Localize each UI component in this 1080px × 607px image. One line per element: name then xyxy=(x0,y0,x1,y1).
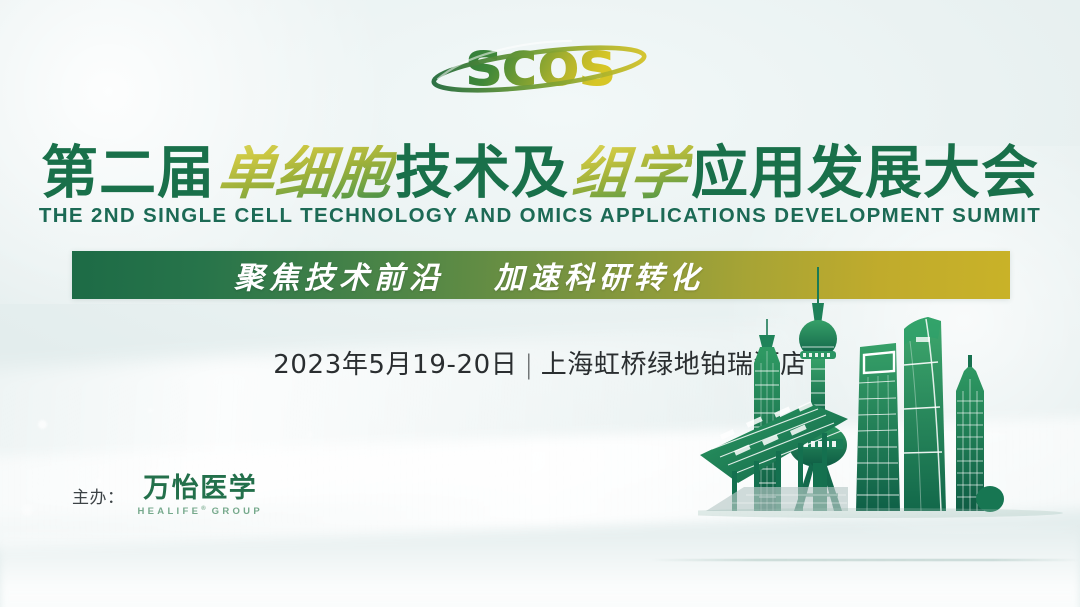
title-segment-2-brush: 单细胞 xyxy=(213,145,398,202)
page-title: 第二届 单细胞 技术及 组学 应用发展大会 xyxy=(0,126,1080,202)
bokeh-dot xyxy=(22,505,33,516)
expo-center-canopy xyxy=(700,401,848,511)
scos-logo: scos xyxy=(0,22,1080,102)
healife-logo: 万怡医学 HEALIFE® GROUP xyxy=(138,474,263,517)
organizer-name-cn: 万怡医学 xyxy=(143,474,257,503)
event-date: 2023年5月19-20日 xyxy=(273,350,517,380)
organizer-block: 主办： 万怡医学 HEALIFE® GROUP xyxy=(72,474,263,517)
skyline-ground-line xyxy=(650,559,1080,561)
bokeh-dot xyxy=(198,452,202,456)
title-segment-5: 应用发展大会 xyxy=(691,145,1039,202)
trademark-symbol: ® xyxy=(201,506,205,512)
slogan-left: 聚焦技术前沿 xyxy=(234,253,444,297)
title-segment-1: 第二届 xyxy=(41,145,215,202)
bokeh-dot xyxy=(148,408,153,413)
organizer-name-en: HEALIFE® GROUP xyxy=(138,506,263,517)
title-segment-3: 技术及 xyxy=(395,145,569,202)
event-separator: | xyxy=(517,350,540,380)
subtitle-english: THE 2ND SINGLE CELL TECHNOLOGY AND OMICS… xyxy=(0,204,1080,228)
slogan-banner: 聚焦技术前沿 加速科研转化 xyxy=(72,251,1010,299)
organizer-name-en-main: HEALIFE xyxy=(138,506,202,517)
event-datetime-venue: 2023年5月19-20日|上海虹桥绿地铂瑞酒店 xyxy=(0,344,1080,381)
event-venue: 上海虹桥绿地铂瑞酒店 xyxy=(541,350,807,380)
title-segment-4-brush: 组学 xyxy=(567,145,694,202)
organizer-name-en-suffix: GROUP xyxy=(212,506,263,517)
organizer-label: 主办： xyxy=(72,483,125,508)
poster-canvas: scos 第二届 单细胞 技术及 组学 应用发展大会 THE 2ND SINGL… xyxy=(0,0,1080,607)
bottom-fade xyxy=(0,522,1080,607)
shanghai-skyline-illustration xyxy=(698,259,1080,559)
bokeh-dot xyxy=(38,420,47,429)
slogan-right: 加速科研转化 xyxy=(494,253,704,297)
bokeh-dot xyxy=(308,432,313,437)
oriental-pearl-tower xyxy=(789,267,847,511)
scos-logo-svg: scos xyxy=(425,23,655,101)
